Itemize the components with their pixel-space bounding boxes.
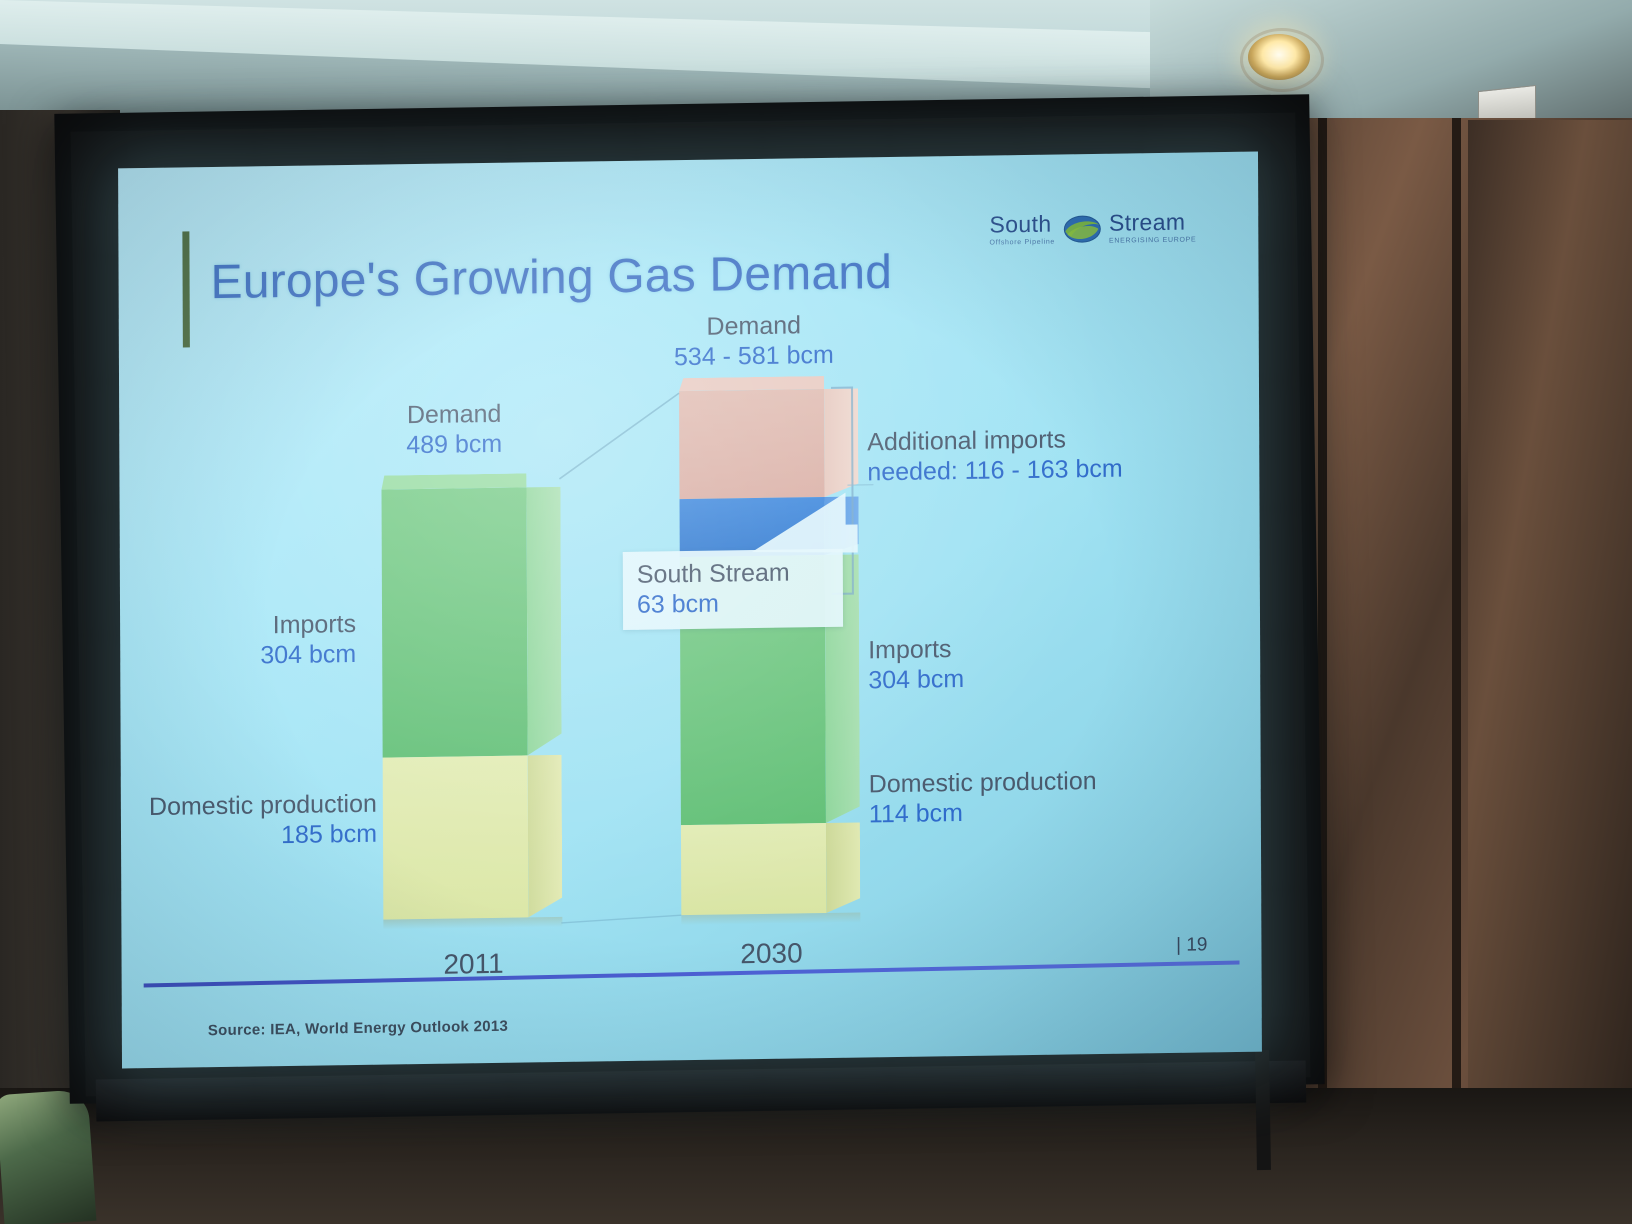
segment-side-face xyxy=(826,823,860,914)
bar-segment-additional-imports-2030 xyxy=(679,389,824,499)
label-demand-2030: Demand 534 - 581 bcm xyxy=(629,310,879,373)
label-additional-imports-2030: Additional imports needed: 116 - 163 bcm xyxy=(867,423,1197,487)
logo-left-word-block: South Offshore Pipeline xyxy=(989,213,1055,247)
label-value: needed: 116 - 163 bcm xyxy=(867,453,1197,487)
photo-scene: Europe's Growing Gas Demand South Offsho… xyxy=(0,0,1632,1224)
segment-top-face xyxy=(679,376,824,391)
axis-label-2030: 2030 xyxy=(681,936,861,971)
source-citation: Source: IEA, World Energy Outlook 2013 xyxy=(208,1018,508,1039)
label-title: Demand xyxy=(629,310,879,343)
stacked-bar-chart: Demand 489 bcm Demand 534 - 581 bcm Impo… xyxy=(119,347,1262,1004)
logo-word-stream: Stream xyxy=(1109,210,1196,234)
label-value: 304 bcm xyxy=(868,662,1108,695)
south-stream-logo: South Offshore Pipeline Stream ENERGISIN… xyxy=(989,210,1196,246)
segment-side-face xyxy=(528,755,563,918)
label-title: Domestic production xyxy=(869,766,1169,800)
page-number: | 19 xyxy=(1176,934,1207,956)
segment-front-face xyxy=(681,823,826,915)
label-value: 489 bcm xyxy=(349,428,559,461)
south-stream-globe-icon xyxy=(1062,213,1102,244)
ceiling-downlight-icon xyxy=(1248,34,1310,80)
label-imports-2011: Imports 304 bcm xyxy=(140,610,356,672)
segment-front-face xyxy=(381,487,527,757)
logo-tagline-energising: ENERGISING EUROPE xyxy=(1109,236,1196,244)
wall-far xyxy=(1468,120,1632,1120)
label-domestic-2011: Domestic production 185 bcm xyxy=(118,790,377,853)
logo-tagline-offshore: Offshore Pipeline xyxy=(990,239,1056,247)
bar-segment-domestic-2011 xyxy=(383,755,529,919)
label-value: 114 bcm xyxy=(869,795,1169,829)
segment-front-face xyxy=(679,389,824,499)
bar-base-shadow xyxy=(681,913,860,926)
title-accent-bar xyxy=(182,231,190,347)
label-domestic-2030: Domestic production 114 bcm xyxy=(869,766,1169,829)
label-demand-2011: Demand 489 bcm xyxy=(349,399,559,461)
page-title: Europe's Growing Gas Demand xyxy=(210,245,892,310)
callout-value: 63 bcm xyxy=(637,587,827,620)
bar-column-2030 xyxy=(679,389,826,915)
projector-screen-stand xyxy=(1255,1050,1271,1170)
label-title: Demand xyxy=(349,399,559,432)
bar-segment-domestic-2030 xyxy=(681,823,826,915)
label-value: 185 bcm xyxy=(118,819,377,853)
segment-side-face xyxy=(526,487,561,756)
logo-word-south: South xyxy=(989,213,1055,237)
foreground-object xyxy=(0,1089,96,1224)
presentation-slide: Europe's Growing Gas Demand South Offsho… xyxy=(118,152,1262,1069)
wall-seam xyxy=(1452,118,1461,1108)
label-value: 304 bcm xyxy=(140,639,356,672)
label-title: Imports xyxy=(868,633,1108,666)
bar-segment-imports-2011 xyxy=(381,487,527,757)
label-value: 534 - 581 bcm xyxy=(629,340,879,373)
logo-right-word-block: Stream ENERGISING EUROPE xyxy=(1109,210,1196,244)
bar-column-2011 xyxy=(381,487,528,919)
callout-pointer-icon xyxy=(749,490,859,564)
segment-top-face xyxy=(381,473,526,489)
label-title: Imports xyxy=(140,610,356,643)
bar-base-shadow xyxy=(383,917,562,930)
label-imports-2030: Imports 304 bcm xyxy=(868,633,1108,696)
segment-front-face xyxy=(383,755,529,919)
label-title: Domestic production xyxy=(118,790,377,824)
